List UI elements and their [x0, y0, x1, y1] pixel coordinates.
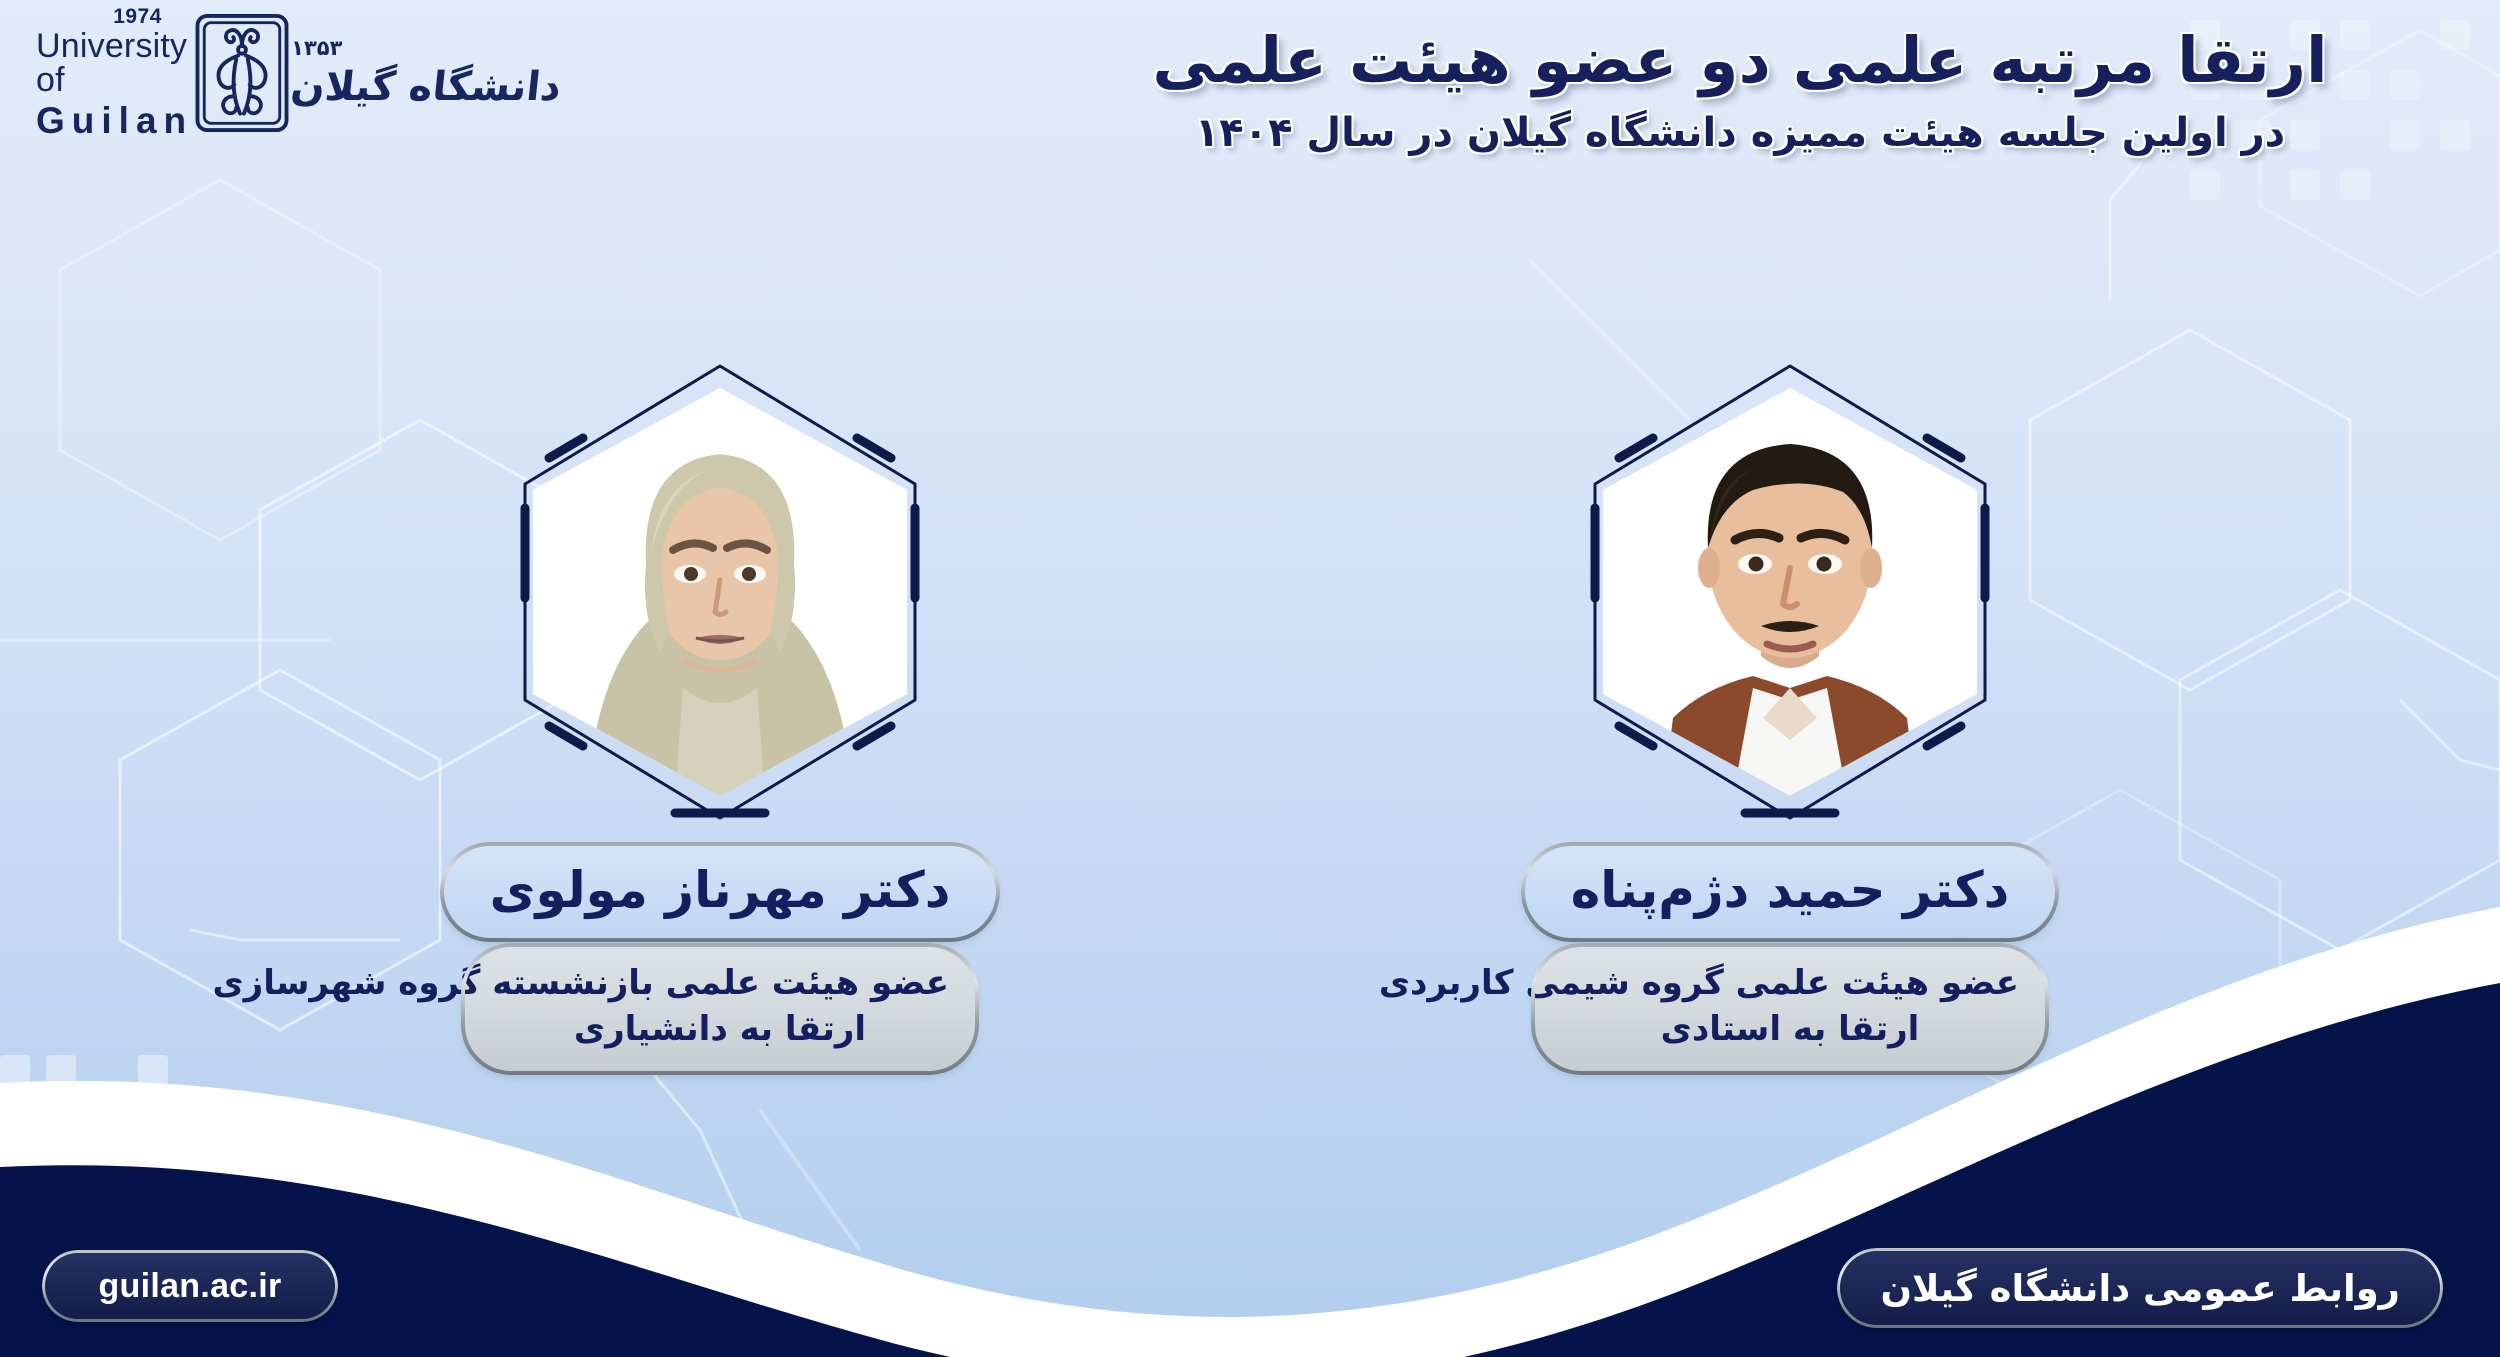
logo-line-university-of: University of [36, 29, 193, 97]
header-block: ارتقا مرتبه علمی دو عضو هیئت علمی در اول… [1040, 22, 2440, 159]
avatar [1575, 358, 2005, 826]
university-logo: 1974 University of Guilan ۱۳۵۳ دانشگاه گ… [30, 10, 500, 135]
avatar [505, 358, 935, 826]
hexagon-frame-icon [505, 358, 935, 826]
public-relations-pill[interactable]: روابط عمومی دانشگاه گیلان [1840, 1251, 2440, 1325]
logo-year-english: 1974 [113, 6, 162, 27]
hexagon-frame-icon [1575, 358, 2005, 826]
logo-year-persian: ۱۳۵۳ [291, 36, 342, 60]
poster-canvas: 1974 University of Guilan ۱۳۵۳ دانشگاه گ… [0, 0, 2500, 1357]
page-title: ارتقا مرتبه علمی دو عضو هیئت علمی [1040, 22, 2440, 101]
guilan-emblem-icon [193, 13, 291, 133]
logo-line-guilan: Guilan [36, 102, 193, 139]
website-label: guilan.ac.ir [98, 1267, 281, 1306]
website-pill[interactable]: guilan.ac.ir [45, 1253, 335, 1319]
logo-english-text: 1974 University of Guilan [36, 6, 193, 139]
public-relations-label: روابط عمومی دانشگاه گیلان [1880, 1267, 2400, 1310]
logo-persian-text: ۱۳۵۳ دانشگاه گیلان [291, 36, 561, 110]
page-subtitle: در اولین جلسه هیئت ممیزه دانشگاه گیلان د… [1040, 107, 2440, 159]
logo-line-guilan-persian: دانشگاه گیلان [289, 64, 564, 110]
